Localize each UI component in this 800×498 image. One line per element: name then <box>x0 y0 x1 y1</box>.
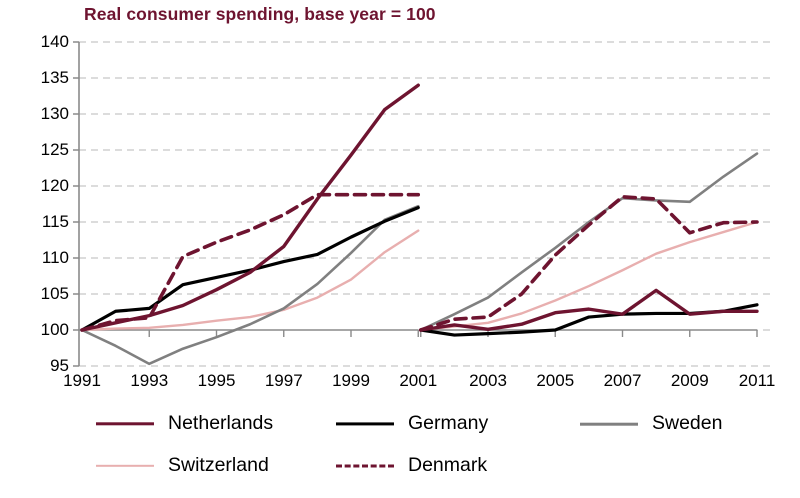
axes <box>79 42 757 366</box>
x-axis-tick-label: 1991 <box>52 372 112 389</box>
legend-swatch-germany-icon <box>336 416 394 432</box>
y-axis-tick-label: 140 <box>25 33 69 50</box>
plot-area: 95100105110115120125130135140 1991199319… <box>0 0 800 400</box>
legend-label: Netherlands <box>168 414 273 434</box>
x-axis-tick-label: 2001 <box>388 372 448 389</box>
y-axis-tick-label: 100 <box>25 321 69 338</box>
y-axis-tick-label: 110 <box>25 249 69 266</box>
legend-item-switzerland[interactable]: Switzerland <box>96 446 269 486</box>
legend-swatch-netherlands-icon <box>96 416 154 432</box>
x-axis-tick-label: 2003 <box>458 372 518 389</box>
legend-swatch-sweden-icon <box>580 416 638 432</box>
legend-label: Germany <box>408 414 488 434</box>
x-axis-tick-label: 2009 <box>660 372 720 389</box>
y-axis-tick-label: 135 <box>25 69 69 86</box>
x-axis-tick-label: 2005 <box>525 372 585 389</box>
series-line-netherlands <box>82 85 418 330</box>
x-axis-tick-label: 1993 <box>119 372 179 389</box>
legend-label: Switzerland <box>168 456 269 476</box>
x-axis-tick-label: 1999 <box>321 372 381 389</box>
gridlines <box>79 42 770 366</box>
x-axis-tick-label: 2011 <box>727 372 787 389</box>
data-series-layer <box>82 85 757 364</box>
y-axis-tick-label: 120 <box>25 177 69 194</box>
series-line-switzerland <box>82 231 418 330</box>
y-axis-tick-label: 105 <box>25 285 69 302</box>
x-axis-tick-label: 1997 <box>254 372 314 389</box>
y-axis-tick-label: 130 <box>25 105 69 122</box>
legend-row: NetherlandsGermanySweden <box>96 404 796 444</box>
legend-row: SwitzerlandDenmark <box>96 446 796 486</box>
legend-label: Sweden <box>652 414 722 434</box>
y-axis-tick-label: 115 <box>25 213 69 230</box>
x-axis-tick-label: 2007 <box>593 372 653 389</box>
y-axis-tick-label: 125 <box>25 141 69 158</box>
chart-canvas <box>0 0 800 400</box>
x-axis-tick-label: 1995 <box>187 372 247 389</box>
y-tick-marks <box>73 42 79 366</box>
legend-item-germany[interactable]: Germany <box>336 404 488 444</box>
legend-item-sweden[interactable]: Sweden <box>580 404 722 444</box>
chart-legend: NetherlandsGermanySwedenSwitzerlandDenma… <box>0 404 800 498</box>
legend-label: Denmark <box>408 456 487 476</box>
chart-root: Real consumer spending, base year = 100 … <box>0 0 800 498</box>
legend-swatch-switzerland-icon <box>96 458 154 474</box>
legend-item-netherlands[interactable]: Netherlands <box>96 404 273 444</box>
legend-item-denmark[interactable]: Denmark <box>336 446 487 486</box>
series-line-germany <box>82 208 418 330</box>
legend-swatch-denmark-icon <box>336 458 394 474</box>
series-line-sweden <box>421 154 757 330</box>
